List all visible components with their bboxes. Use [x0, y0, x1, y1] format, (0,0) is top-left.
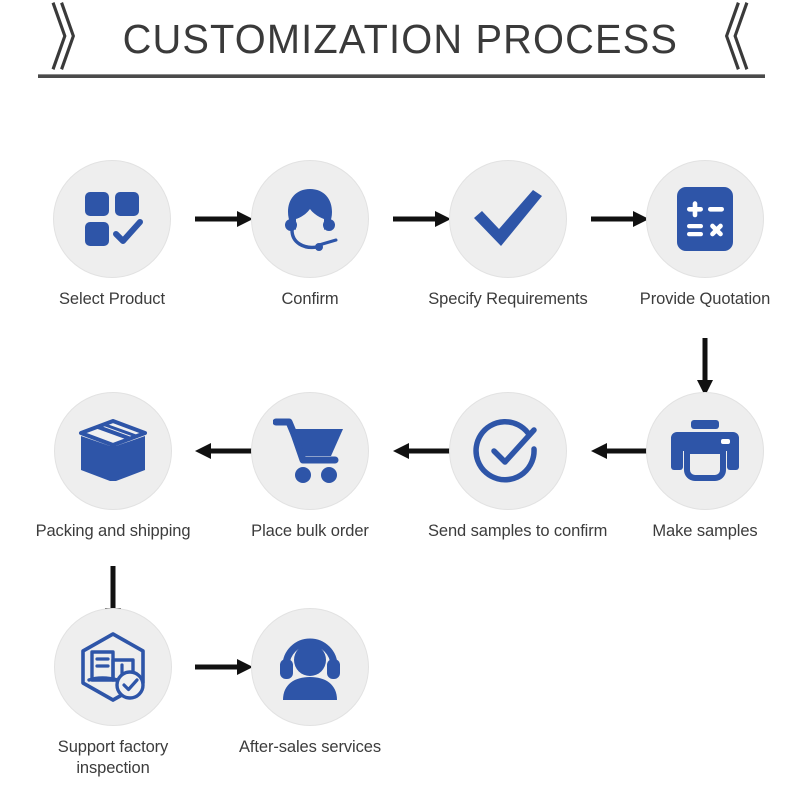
flow-step-send-samples-to-confirm[interactable]: Send samples to confirm: [428, 392, 588, 542]
step-icon-circle: [646, 392, 764, 510]
flow-row-1: Select Product Confirm: [0, 160, 800, 330]
step-icon-circle: [646, 160, 764, 278]
step-label: Specify Requirements: [428, 289, 588, 310]
flow-step-provide-quotation[interactable]: Provide Quotation: [625, 160, 785, 310]
flow-step-confirm[interactable]: Confirm: [230, 160, 390, 310]
arrow-row1-to-row2: [696, 336, 714, 398]
flow-step-select-product[interactable]: Select Product: [32, 160, 192, 310]
page-header: 》 CUSTOMIZATION PROCESS 《: [0, 0, 800, 90]
flow-step-support-factory-inspection[interactable]: Support factory inspection: [33, 608, 193, 779]
calculator-icon: [673, 183, 737, 255]
step-icon-circle: [449, 160, 567, 278]
flow-step-make-samples[interactable]: Make samples: [625, 392, 785, 542]
step-icon-circle: [449, 392, 567, 510]
step-label: Provide Quotation: [625, 289, 785, 310]
headset-agent-icon: [274, 183, 346, 255]
step-label: Send samples to confirm: [428, 521, 588, 542]
grid-check-icon: [77, 184, 147, 254]
chevron-left-double-icon: 《: [696, 3, 750, 76]
step-icon-circle: [54, 608, 172, 726]
flow-row-2: Packing and shipping Place bulk order: [0, 392, 800, 562]
support-person-icon: [273, 632, 347, 702]
flow-step-place-bulk-order[interactable]: Place bulk order: [230, 392, 390, 542]
shopping-cart-icon: [273, 416, 347, 486]
package-box-icon: [76, 415, 150, 487]
flow-step-packing-and-shipping[interactable]: Packing and shipping: [33, 392, 193, 542]
step-label: Packing and shipping: [33, 521, 193, 542]
step-label: Support factory inspection: [33, 737, 193, 779]
printer-icon: [669, 418, 741, 484]
title-row: 》 CUSTOMIZATION PROCESS 《: [0, 8, 800, 70]
step-icon-circle: [251, 160, 369, 278]
factory-inspection-shield-icon: [75, 630, 151, 704]
step-icon-circle: [251, 608, 369, 726]
step-icon-circle: [54, 392, 172, 510]
step-icon-circle: [251, 392, 369, 510]
step-label: Make samples: [625, 521, 785, 542]
checkmark-icon: [470, 184, 546, 254]
step-label: Select Product: [32, 289, 192, 310]
step-label: Confirm: [230, 289, 390, 310]
chevron-right-double-icon: 》: [50, 3, 104, 76]
flow-step-after-sales-services[interactable]: After-sales services: [230, 608, 390, 758]
step-label: After-sales services: [230, 737, 390, 758]
title-divider: [38, 74, 765, 78]
flow-step-specify-requirements[interactable]: Specify Requirements: [428, 160, 588, 310]
step-label: Place bulk order: [230, 521, 390, 542]
step-icon-circle: [53, 160, 171, 278]
page-title: CUSTOMIZATION PROCESS: [122, 16, 678, 63]
flow-row-3: Support factory inspection After-sales s…: [0, 608, 800, 783]
circle-check-icon: [472, 415, 544, 487]
